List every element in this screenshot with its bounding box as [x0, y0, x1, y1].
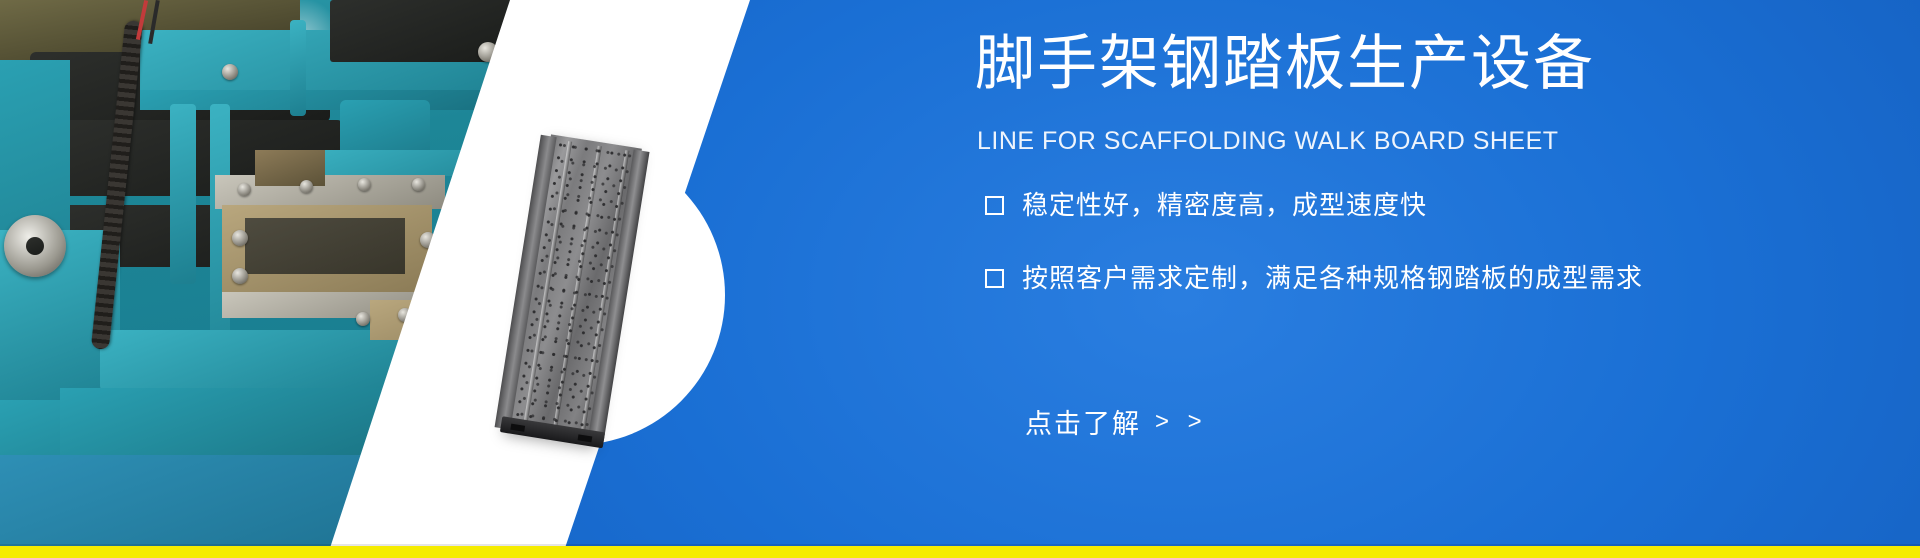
- feature-text: 按照客户需求定制，满足各种规格钢踏板的成型需求: [1022, 263, 1643, 294]
- chevron-right-icon: > >: [1155, 408, 1208, 436]
- page-subtitle: LINE FOR SCAFFOLDING WALK BOARD SHEET: [977, 126, 1559, 156]
- list-item: 稳定性好，精密度高，成型速度快: [985, 190, 1865, 221]
- feature-list: 稳定性好，精密度高，成型速度快 按照客户需求定制，满足各种规格钢踏板的成型需求: [985, 190, 1865, 336]
- checkbox-icon: [985, 269, 1004, 288]
- learn-more-link[interactable]: 点击了解 > >: [1025, 402, 1208, 441]
- copy-block: 脚手架钢踏板生产设备 LINE FOR SCAFFOLDING WALK BOA…: [975, 0, 1875, 548]
- feature-text: 稳定性好，精密度高，成型速度快: [1022, 190, 1427, 221]
- checkbox-icon: [985, 196, 1004, 215]
- learn-more-label: 点击了解: [1025, 402, 1141, 441]
- page-title: 脚手架钢踏板生产设备: [975, 31, 1595, 97]
- promo-banner: 脚手架钢踏板生产设备 LINE FOR SCAFFOLDING WALK BOA…: [0, 0, 1920, 558]
- bottom-accent-strip: [0, 546, 1920, 558]
- list-item: 按照客户需求定制，满足各种规格钢踏板的成型需求: [985, 263, 1865, 294]
